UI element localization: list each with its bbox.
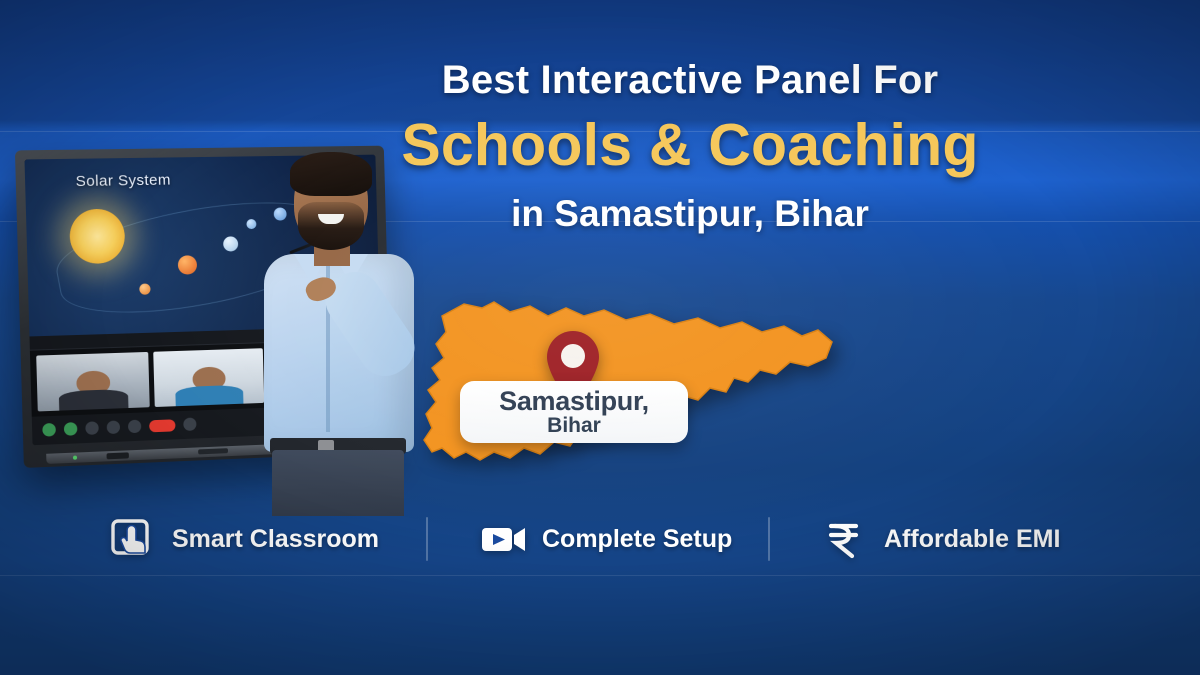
camera-icon [64, 423, 78, 437]
planet-icon [223, 236, 238, 251]
microphone-icon [42, 423, 56, 437]
feature-complete-setup: Complete Setup [428, 518, 768, 560]
video-camera-icon [480, 518, 526, 560]
rupee-icon [822, 518, 868, 560]
location-label-card: Samastipur, Bihar [460, 381, 688, 443]
ir-sensor-icon [106, 452, 128, 459]
power-indicator-icon [73, 456, 77, 460]
participant-tile [36, 352, 150, 411]
touch-screen-icon [110, 518, 156, 560]
feature-affordable-emi: Affordable EMI [770, 518, 1080, 560]
headline-block: Best Interactive Panel For Schools & Coa… [340, 58, 1040, 235]
feature-smart-classroom: Smart Classroom [96, 518, 426, 560]
headline-line-1: Best Interactive Panel For [340, 58, 1040, 103]
raise-hand-icon [107, 421, 121, 435]
promo-banner: Solar System [0, 0, 1200, 675]
background-band-divider-bottom [0, 575, 1200, 576]
headline-line-3: in Samastipur, Bihar [340, 193, 1040, 235]
more-options-icon [183, 418, 196, 432]
feature-label: Affordable EMI [884, 525, 1060, 554]
slide-title: Solar System [75, 171, 171, 190]
share-screen-icon [85, 422, 99, 436]
feature-bar: Smart Classroom Complete Setup [96, 508, 1096, 570]
end-call-icon [149, 419, 175, 432]
brand-logo [198, 448, 228, 454]
planet-icon [177, 255, 197, 274]
feature-label: Smart Classroom [172, 525, 379, 554]
headline-line-2: Schools & Coaching [340, 111, 1040, 179]
phone-icon [128, 420, 141, 434]
location-city: Samastipur, [499, 388, 649, 416]
feature-label: Complete Setup [542, 525, 732, 554]
location-state: Bihar [547, 415, 601, 436]
